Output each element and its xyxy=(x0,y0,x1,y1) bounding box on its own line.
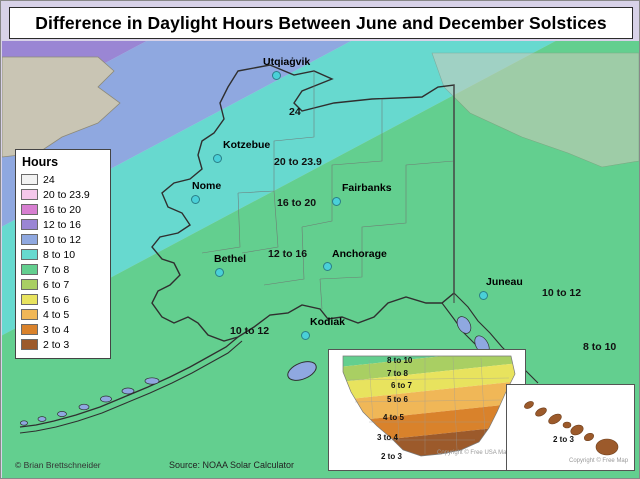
legend-label: 12 to 16 xyxy=(43,219,81,231)
band-label: 10 to 12 xyxy=(542,287,581,299)
legend-label: 6 to 7 xyxy=(43,279,69,291)
source-credit: Source: NOAA Solar Calculator xyxy=(169,460,294,470)
legend-swatch xyxy=(21,249,38,260)
legend-item: 2 to 3 xyxy=(21,337,105,352)
legend-heading: Hours xyxy=(22,155,105,169)
city-dot-kotzebue xyxy=(213,154,222,163)
inset-band-label: 4 to 5 xyxy=(383,413,404,422)
legend-swatch xyxy=(21,219,38,230)
city-dot-kodiak xyxy=(301,331,310,340)
city-label-kodiak: Kodiak xyxy=(310,316,345,328)
band-label: 8 to 10 xyxy=(583,341,616,353)
city-label-utqiagvik: Utqiaġvik xyxy=(263,56,310,68)
legend-label: 7 to 8 xyxy=(43,264,69,276)
legend: Hours 24 20 to 23.9 16 to 20 12 to 16 10… xyxy=(15,149,111,359)
legend-item: 8 to 10 xyxy=(21,247,105,262)
band-label: 24 xyxy=(289,106,301,118)
city-label-anchorage: Anchorage xyxy=(332,248,387,260)
legend-swatch xyxy=(21,294,38,305)
legend-label: 24 xyxy=(43,174,55,186)
city-dot-juneau xyxy=(479,291,488,300)
legend-swatch xyxy=(21,174,38,185)
inset-band-label: 7 to 8 xyxy=(387,369,408,378)
map-figure: Difference in Daylight Hours Between Jun… xyxy=(0,0,640,479)
legend-item: 4 to 5 xyxy=(21,307,105,322)
city-dot-anchorage xyxy=(323,262,332,271)
legend-item: 3 to 4 xyxy=(21,322,105,337)
legend-swatch xyxy=(21,234,38,245)
inset-band-label: 5 to 6 xyxy=(387,395,408,404)
page-title: Difference in Daylight Hours Between Jun… xyxy=(9,7,633,39)
legend-label: 3 to 4 xyxy=(43,324,69,336)
legend-item: 10 to 12 xyxy=(21,232,105,247)
legend-label: 8 to 10 xyxy=(43,249,75,261)
legend-label: 4 to 5 xyxy=(43,309,69,321)
legend-label: 5 to 6 xyxy=(43,294,69,306)
legend-swatch xyxy=(21,264,38,275)
legend-item: 12 to 16 xyxy=(21,217,105,232)
legend-item: 7 to 8 xyxy=(21,262,105,277)
city-label-fairbanks: Fairbanks xyxy=(342,182,392,194)
band-label: 16 to 20 xyxy=(277,197,316,209)
legend-label: 16 to 20 xyxy=(43,204,81,216)
legend-item: 5 to 6 xyxy=(21,292,105,307)
inset-hawaii: 2 to 3 Copyright © Free Map xyxy=(506,384,635,471)
inset-band-label: 2 to 3 xyxy=(553,435,574,444)
page-title-text: Difference in Daylight Hours Between Jun… xyxy=(35,13,606,34)
inset-credit: Copyright © Free Map xyxy=(569,458,628,464)
inset-conus: 8 to 10 7 to 8 6 to 7 5 to 6 4 to 5 3 to… xyxy=(328,349,526,471)
band-label: 10 to 12 xyxy=(230,325,269,337)
city-dot-utqiagvik xyxy=(272,71,281,80)
legend-item: 24 xyxy=(21,172,105,187)
city-label-kotzebue: Kotzebue xyxy=(223,139,270,151)
legend-swatch xyxy=(21,339,38,350)
city-label-nome: Nome xyxy=(192,180,221,192)
legend-item: 20 to 23.9 xyxy=(21,187,105,202)
legend-swatch xyxy=(21,204,38,215)
author-credit: © Brian Brettschneider xyxy=(15,460,101,470)
legend-item: 6 to 7 xyxy=(21,277,105,292)
city-dot-nome xyxy=(191,195,200,204)
band-label: 20 to 23.9 xyxy=(274,156,322,168)
city-dot-fairbanks xyxy=(332,197,341,206)
legend-label: 2 to 3 xyxy=(43,339,69,351)
city-label-juneau: Juneau xyxy=(486,276,523,288)
inset-band-label: 8 to 10 xyxy=(387,356,412,365)
legend-label: 10 to 12 xyxy=(43,234,81,246)
inset-band-label: 6 to 7 xyxy=(391,381,412,390)
legend-item: 16 to 20 xyxy=(21,202,105,217)
legend-swatch xyxy=(21,324,38,335)
city-label-bethel: Bethel xyxy=(214,253,246,265)
city-dot-bethel xyxy=(215,268,224,277)
band-label: 12 to 16 xyxy=(268,248,307,260)
inset-band-label: 3 to 4 xyxy=(377,433,398,442)
inset-credit: Copyright © Free USA Map xyxy=(437,450,510,456)
legend-swatch xyxy=(21,309,38,320)
inset-band-label: 2 to 3 xyxy=(381,452,402,461)
legend-label: 20 to 23.9 xyxy=(43,189,90,201)
legend-swatch xyxy=(21,279,38,290)
legend-swatch xyxy=(21,189,38,200)
